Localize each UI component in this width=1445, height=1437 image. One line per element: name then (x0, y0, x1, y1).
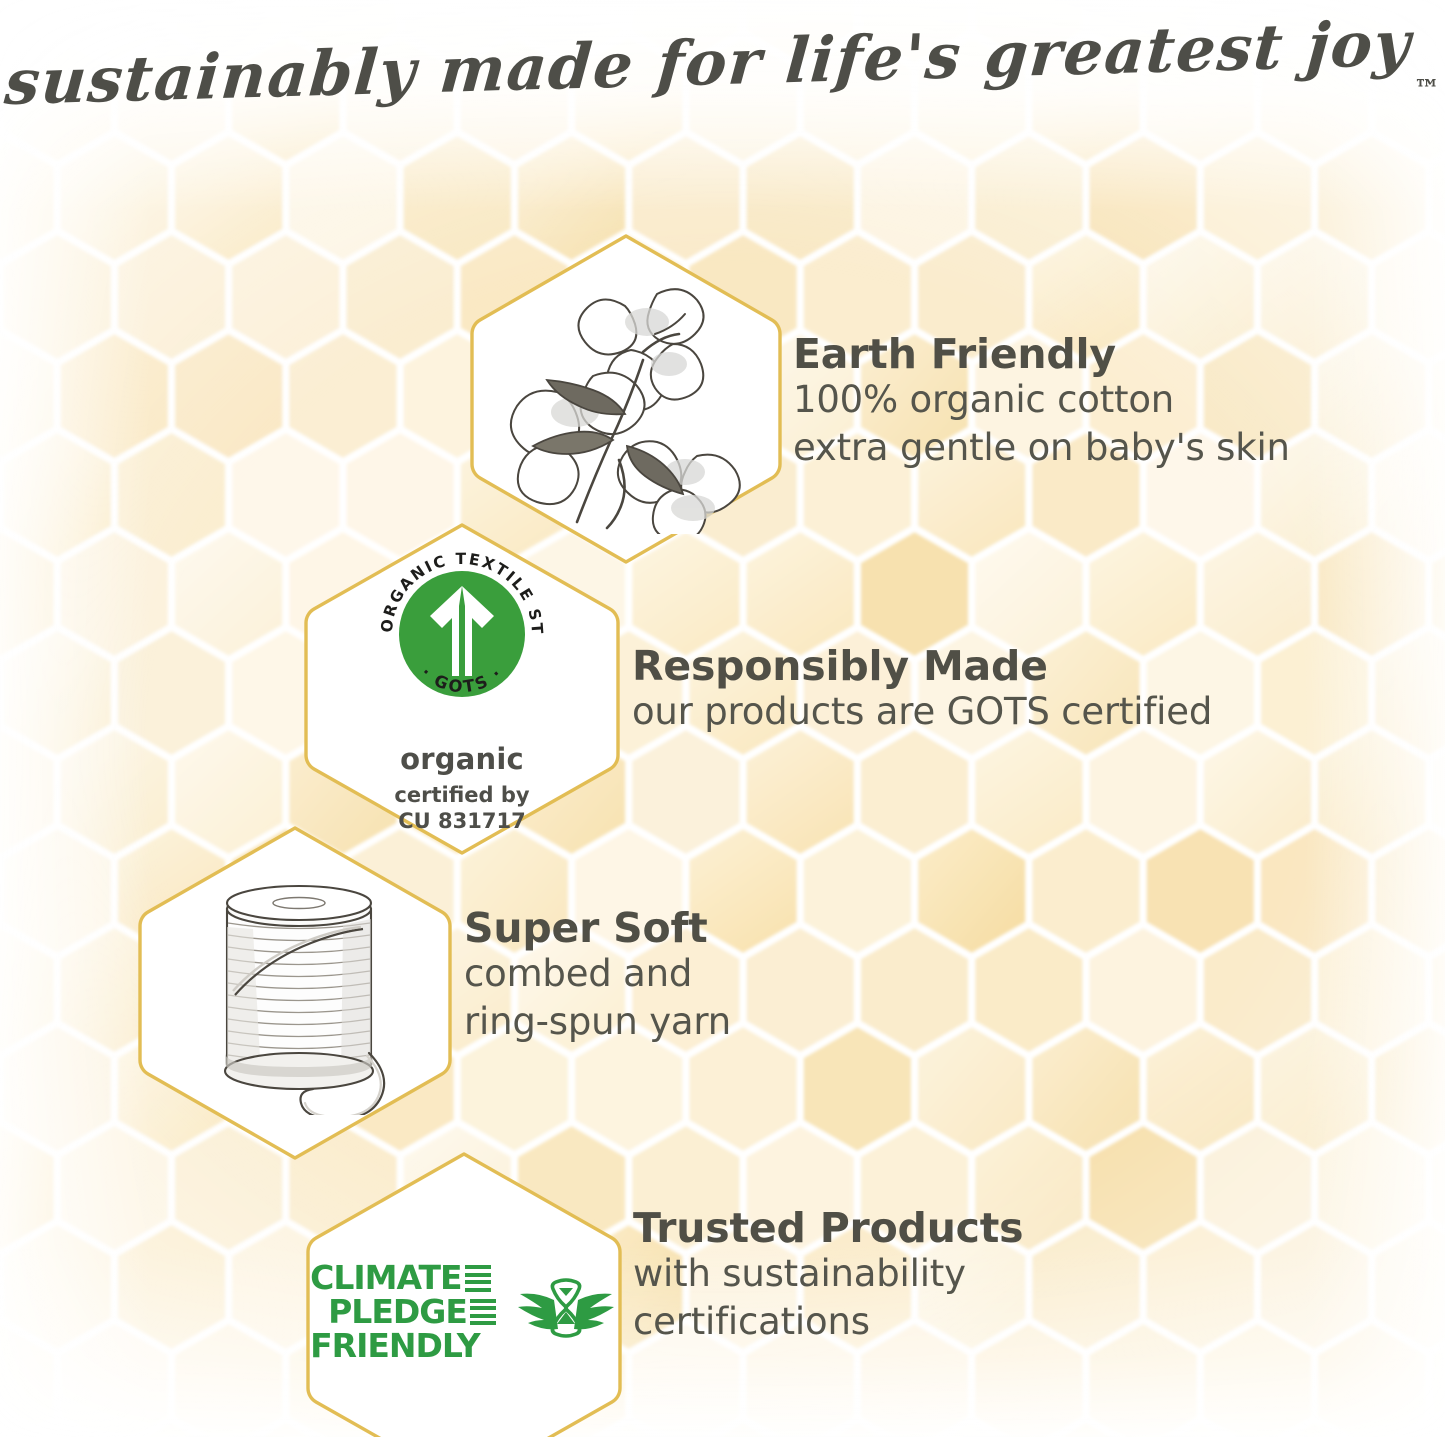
gots-certified-by-line: certified by (394, 783, 529, 809)
feature-hexagon-responsibly-made: GLOBAL ORGANIC TEXTILE STANDARD · GOTS ·… (300, 519, 624, 859)
cotton-branch-sketch-icon (497, 264, 755, 534)
feature-line: certifications (633, 1298, 1023, 1345)
hexagon-content: GLOBAL ORGANIC TEXTILE STANDARD · GOTS ·… (300, 519, 624, 859)
feature-text-trusted-products: Trusted Products with sustainability cer… (633, 1206, 1023, 1345)
gots-seal-icon: GLOBAL ORGANIC TEXTILE STANDARD · GOTS · (366, 538, 558, 730)
hexagon-content (134, 822, 456, 1164)
cpf-bar-glyph-icon (470, 1299, 496, 1326)
feature-text-earth-friendly: Earth Friendly 100% organic cotton extra… (793, 332, 1290, 471)
winged-hourglass-icon (514, 1274, 618, 1350)
feature-text-responsibly-made: Responsibly Made our products are GOTS c… (632, 644, 1212, 736)
climate-pledge-wordmark: CLIMATE PLEDGE FRIENDLY (310, 1262, 496, 1361)
thread-spool-sketch-icon (183, 867, 413, 1115)
feature-title: Responsibly Made (632, 644, 1212, 688)
cpf-bar-glyph-icon (465, 1265, 491, 1292)
feature-line: combed and (464, 950, 731, 997)
cpf-line-1: CLIMATE (310, 1262, 496, 1294)
gots-logo-mark: GLOBAL ORGANIC TEXTILE STANDARD · GOTS · (366, 538, 558, 730)
hexagon-content: CLIMATE PLEDGE FRIENDLY (302, 1148, 626, 1437)
cpf-word-friendly: FRIENDLY (310, 1330, 480, 1362)
gots-organic-label: organic (400, 742, 524, 776)
cpf-line-2: PLEDGE (328, 1296, 496, 1328)
feature-hexagon-super-soft (134, 822, 456, 1164)
gots-badge: GLOBAL ORGANIC TEXTILE STANDARD · GOTS ·… (366, 538, 558, 834)
feature-line: 100% organic cotton (793, 376, 1290, 423)
feature-text-super-soft: Super Soft combed and ring-spun yarn (464, 906, 731, 1045)
feature-line: our products are GOTS certified (632, 688, 1212, 735)
feature-hexagon-trusted-products: CLIMATE PLEDGE FRIENDLY (302, 1148, 626, 1437)
cpf-word-pledge: PLEDGE (328, 1296, 467, 1328)
cpf-word-climate: CLIMATE (310, 1262, 461, 1294)
feature-line: ring-spun yarn (464, 998, 731, 1045)
hexagon-content (466, 230, 786, 568)
page-title: sustainably made for life's greatest joy… (0, 46, 1445, 119)
climate-pledge-friendly-badge: CLIMATE PLEDGE FRIENDLY (310, 1262, 618, 1361)
marketing-infographic: sustainably made for life's greatest joy… (0, 0, 1445, 1437)
feature-title: Super Soft (464, 906, 731, 950)
feature-title: Earth Friendly (793, 332, 1290, 376)
trademark-symbol: ™ (1414, 75, 1440, 105)
feature-hexagon-earth-friendly (466, 230, 786, 568)
cpf-line-3: FRIENDLY (310, 1330, 496, 1362)
feature-line: with sustainability (633, 1250, 1023, 1297)
feature-line: extra gentle on baby's skin (793, 424, 1290, 471)
feature-title: Trusted Products (633, 1206, 1023, 1250)
